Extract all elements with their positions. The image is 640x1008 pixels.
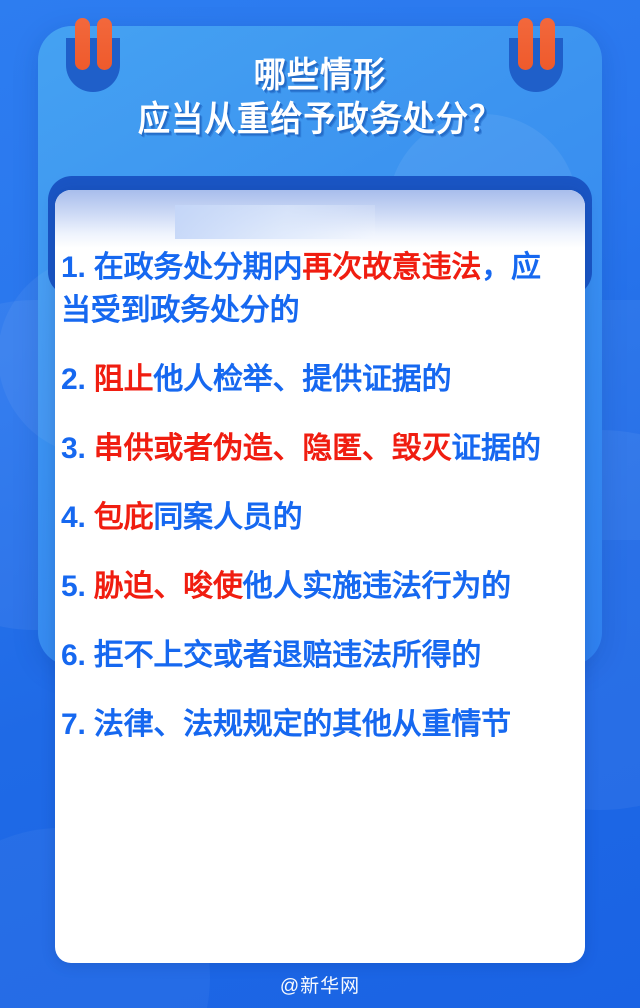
list-item-emphasis: 再次故意违法 bbox=[302, 251, 481, 284]
list-item-text: 同案人员的 bbox=[153, 501, 302, 534]
list-item: 6. 拒不上交或者退赔违法所得的 bbox=[61, 634, 563, 677]
list-item: 5. 胁迫、唆使他人实施违法行为的 bbox=[61, 565, 563, 608]
list-item: 4. 包庇同案人员的 bbox=[61, 496, 563, 539]
list-item-number: 5. bbox=[61, 570, 94, 603]
list-item-text: 他人检举、提供证据的 bbox=[153, 363, 451, 396]
list-item-emphasis: 包庇 bbox=[94, 501, 154, 534]
page-title: 哪些情形 应当从重给予政务处分？ bbox=[0, 54, 640, 142]
list-item-number: 4. bbox=[61, 501, 94, 534]
list-item-number: 3. bbox=[61, 432, 94, 465]
list-item-text: 证据的 bbox=[451, 432, 540, 465]
content-card: 1. 在政务处分期内再次故意违法，应当受到政务处分的2. 阻止他人检举、提供证据… bbox=[55, 190, 585, 963]
source-watermark: @新华网 bbox=[0, 971, 640, 998]
title-line-2: 应当从重给予政务处分？ bbox=[26, 98, 615, 142]
title-line-1: 哪些情形 bbox=[26, 54, 615, 98]
provision-list: 1. 在政务处分期内再次故意违法，应当受到政务处分的2. 阻止他人检举、提供证据… bbox=[55, 190, 585, 756]
list-item-number: 7. bbox=[61, 708, 94, 741]
list-item-emphasis: 阻止 bbox=[94, 363, 154, 396]
list-item-number: 1. bbox=[61, 251, 94, 284]
list-item-emphasis: 胁迫、唆使 bbox=[94, 570, 243, 603]
list-item: 2. 阻止他人检举、提供证据的 bbox=[61, 358, 563, 401]
list-item-text: 他人实施违法行为的 bbox=[243, 570, 511, 603]
poster-root: 哪些情形 应当从重给予政务处分？ 1. 在政务处分期内再次故意违法，应当受到政务… bbox=[0, 0, 640, 1008]
list-item: 1. 在政务处分期内再次故意违法，应当受到政务处分的 bbox=[61, 246, 563, 332]
list-item-number: 2. bbox=[61, 363, 94, 396]
list-item-emphasis: 串供或者伪造、隐匿、毁灭 bbox=[94, 432, 452, 465]
list-item: 3. 串供或者伪造、隐匿、毁灭证据的 bbox=[61, 427, 563, 470]
list-item-number: 6. bbox=[61, 639, 94, 672]
list-item-text: 在政务处分期内 bbox=[94, 251, 303, 284]
list-item-text: 法律、法规规定的其他从重情节 bbox=[94, 708, 511, 741]
list-item-text: 拒不上交或者退赔违法所得的 bbox=[94, 639, 481, 672]
list-item: 7. 法律、法规规定的其他从重情节 bbox=[61, 703, 563, 746]
